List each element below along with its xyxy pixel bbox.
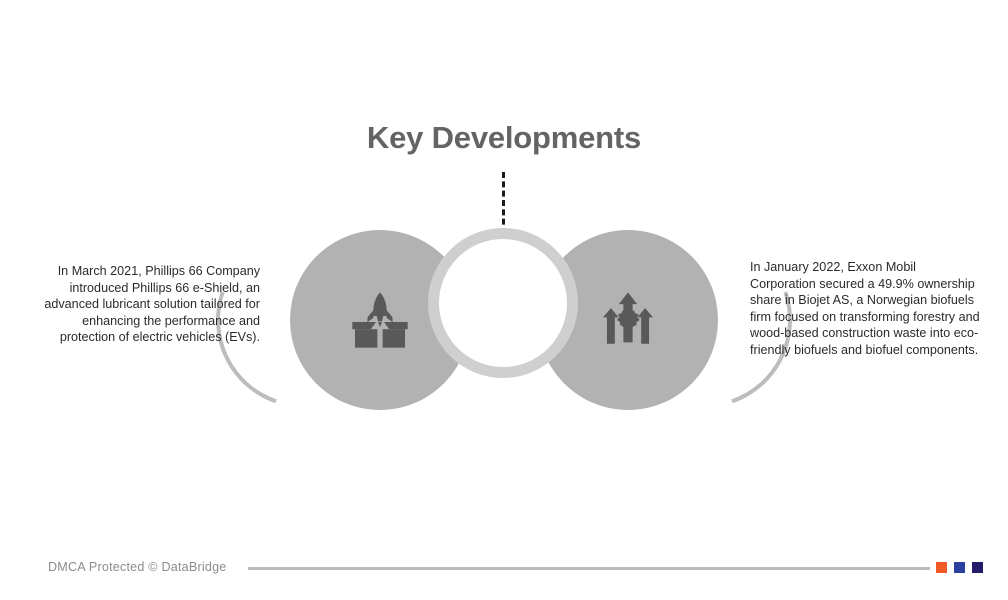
node-right-description: In January 2022, Exxon Mobil Corporation… bbox=[750, 259, 982, 359]
blue-square bbox=[954, 562, 965, 573]
node-left-description: In March 2021, Phillips 66 Company intro… bbox=[28, 263, 260, 346]
footer-copyright: DMCA Protected © DataBridge bbox=[48, 560, 226, 574]
footer-square-marks bbox=[936, 562, 983, 573]
footer: DMCA Protected © DataBridge bbox=[0, 544, 1008, 600]
slide-root: Key Developments bbox=[0, 0, 1008, 600]
dashed-connector-line bbox=[502, 172, 505, 234]
footer-divider bbox=[248, 567, 930, 570]
center-ring bbox=[428, 228, 578, 378]
rocket-in-open-box-icon bbox=[347, 291, 413, 349]
navy-square bbox=[972, 562, 983, 573]
page-title: Key Developments bbox=[0, 120, 1008, 156]
orange-square bbox=[936, 562, 947, 573]
